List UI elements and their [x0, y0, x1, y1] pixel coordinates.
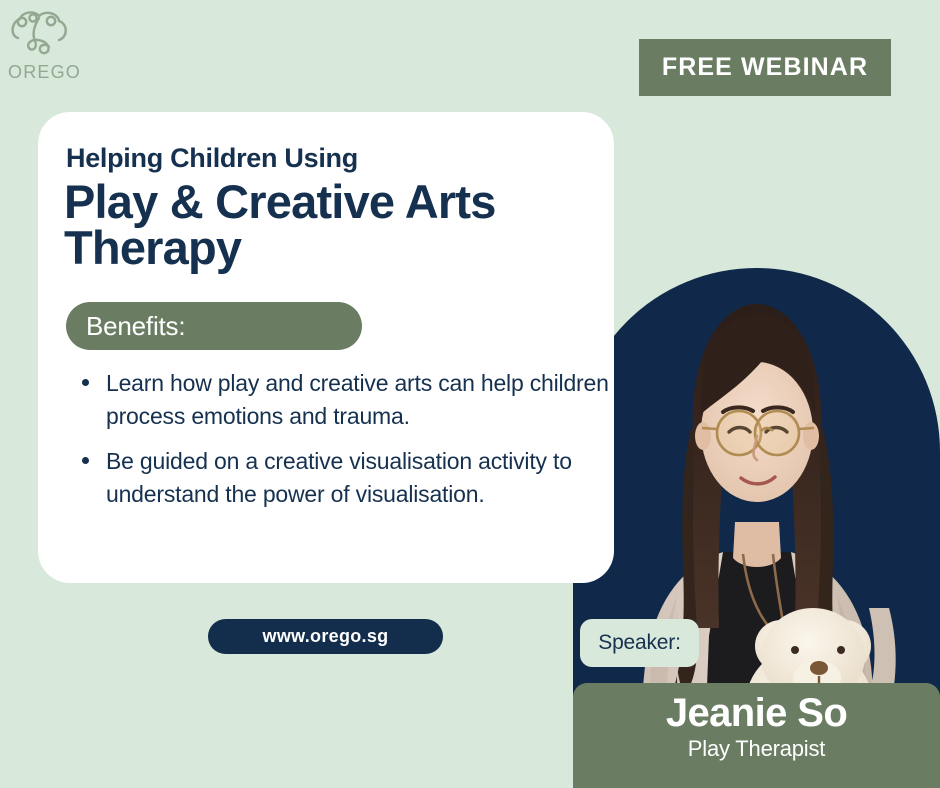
benefits-badge: Benefits:: [66, 302, 362, 350]
speaker-badge: Speaker:: [580, 619, 699, 667]
free-webinar-badge: FREE WEBINAR: [639, 39, 891, 96]
page-title: Play & Creative Arts Therapy: [64, 179, 594, 271]
webinar-poster: OREGO FREE WEBINAR: [0, 0, 940, 788]
speaker-badge-label: Speaker:: [598, 631, 680, 655]
brand-logo: OREGO: [6, 8, 116, 90]
benefit-text: Be guided on a creative visualisation ac…: [106, 448, 572, 507]
website-url: www.orego.sg: [263, 626, 389, 647]
bullet-icon: [82, 379, 89, 386]
benefits-list: Learn how play and creative arts can hel…: [76, 367, 616, 523]
list-item: Be guided on a creative visualisation ac…: [106, 445, 616, 511]
speaker-name-band: Jeanie So Play Therapist: [573, 683, 940, 788]
eyebrow-text: Helping Children Using: [66, 143, 358, 174]
speaker-role: Play Therapist: [573, 736, 940, 762]
content-card: Helping Children Using Play & Creative A…: [38, 112, 614, 583]
free-webinar-label: FREE WEBINAR: [662, 53, 868, 82]
benefits-label: Benefits:: [66, 311, 185, 342]
speaker-name: Jeanie So: [573, 692, 940, 734]
benefit-text: Learn how play and creative arts can hel…: [106, 370, 609, 429]
tree-logo-icon: [8, 8, 72, 66]
bullet-icon: [82, 457, 89, 464]
brand-wordmark: OREGO: [8, 62, 81, 83]
list-item: Learn how play and creative arts can hel…: [106, 367, 616, 433]
website-pill[interactable]: www.orego.sg: [208, 619, 443, 654]
